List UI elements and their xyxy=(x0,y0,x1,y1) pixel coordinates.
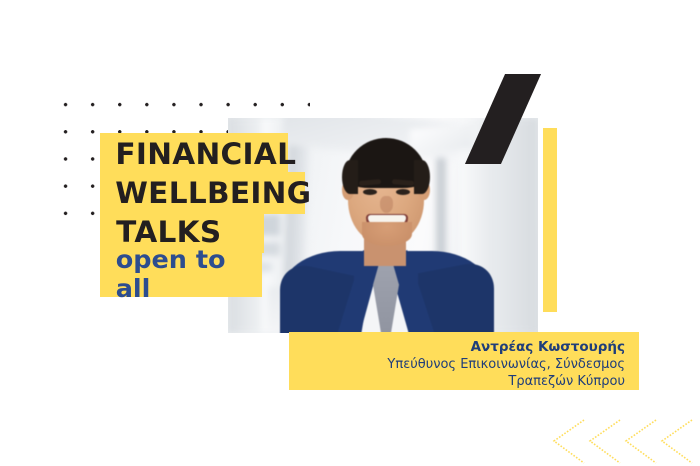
headline-line-1: FINANCIAL xyxy=(100,133,288,175)
headline-text: FINANCIAL xyxy=(98,137,296,171)
speaker-role-line-1: Υπεύθυνος Επικοινωνίας, Σύνδεσμος xyxy=(303,356,625,373)
subhead-block: open to all xyxy=(100,251,262,297)
headline-text: WELLBEING xyxy=(98,176,311,210)
speaker-name: Αντρέας Κωστουρής xyxy=(303,339,625,356)
speaker-role-line-2: Τραπεζών Κύπρου xyxy=(303,373,625,390)
vertical-yellow-bar xyxy=(543,128,557,312)
poster-canvas: FINANCIAL WELLBEING TALKS open to all Αν… xyxy=(0,0,700,466)
speaker-caption: Αντρέας Κωστουρής Υπεύθυνος Επικοινωνίας… xyxy=(289,332,639,390)
headline-text: TALKS xyxy=(99,215,222,249)
headline-line-2: WELLBEING xyxy=(100,172,305,214)
subhead-text: open to all xyxy=(98,245,263,303)
chevron-left-icon xyxy=(548,418,694,466)
